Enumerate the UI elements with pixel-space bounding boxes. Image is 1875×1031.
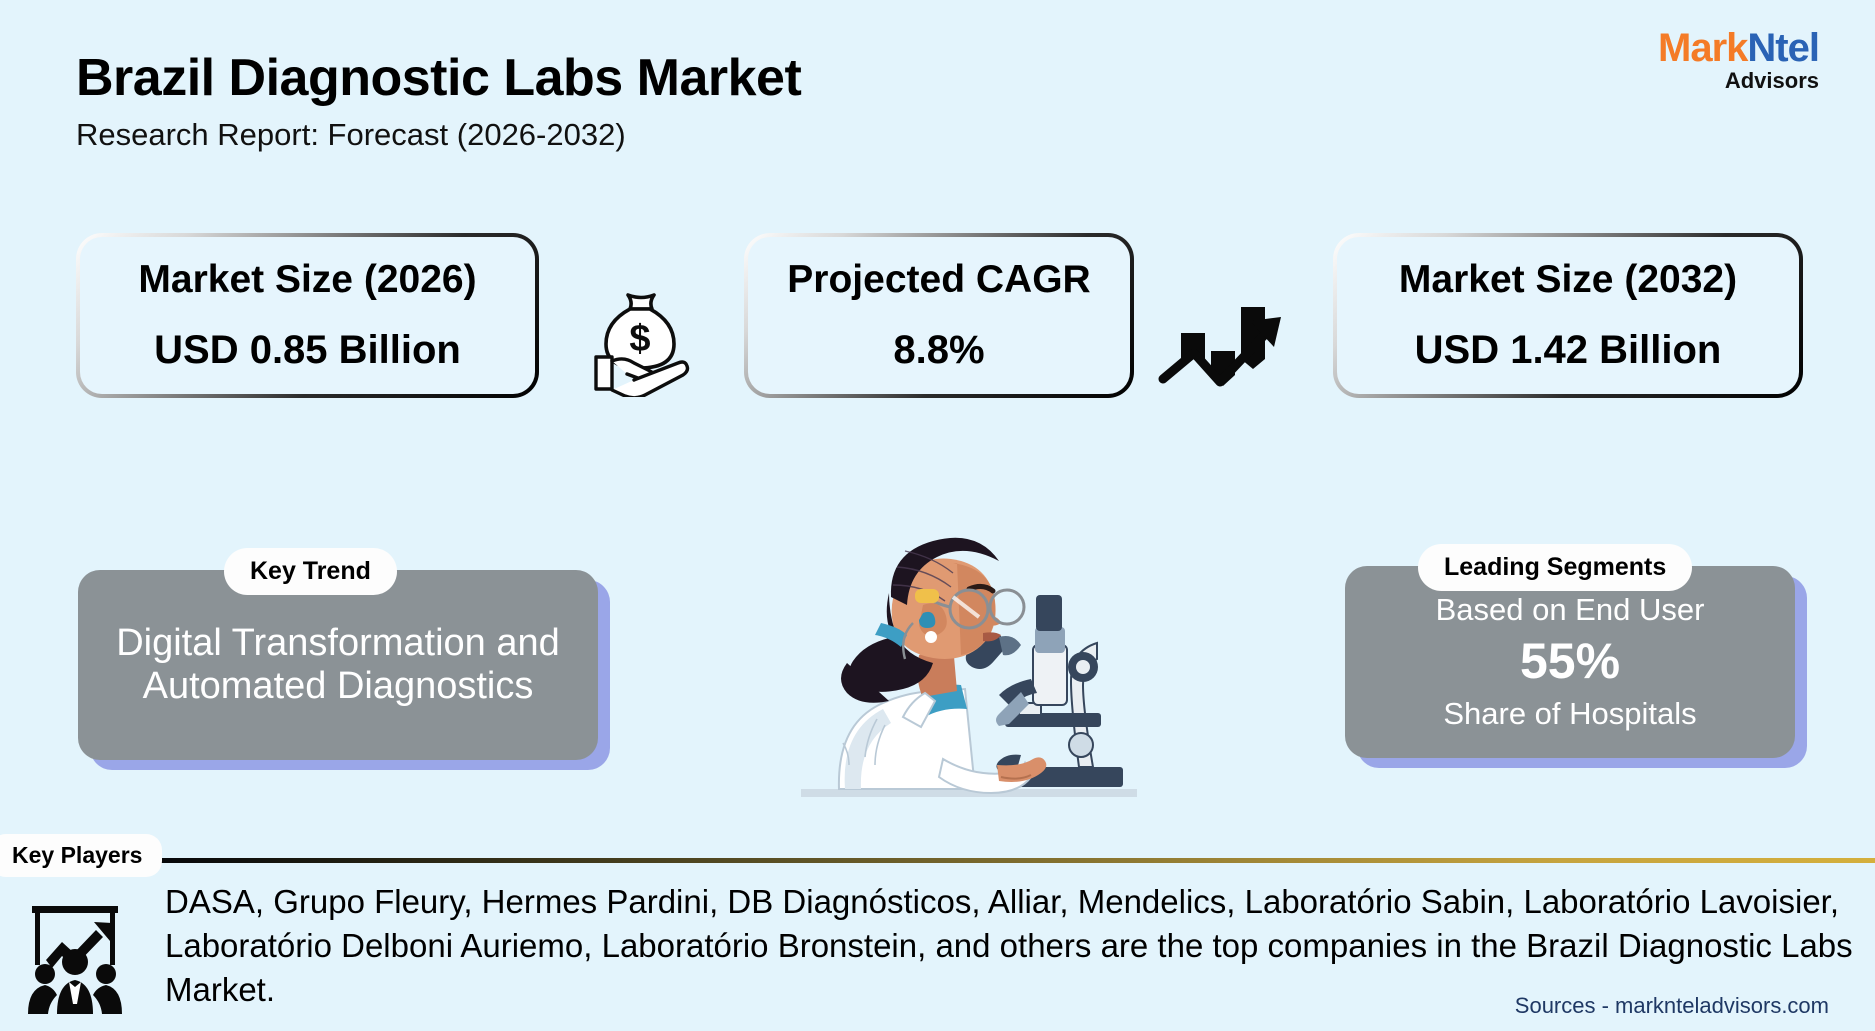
leading-segments-box-body: Based on End User 55% Share of Hospitals <box>1345 566 1795 758</box>
key-trend-text: Digital Transformation and Automated Dia… <box>78 622 598 707</box>
infographic-root: Brazil Diagnostic Labs Market Research R… <box>0 0 1875 1031</box>
money-bag-in-hand-icon: $ <box>578 285 704 397</box>
leading-segments-box: Based on End User 55% Share of Hospitals <box>1345 566 1795 758</box>
key-trend-box-body: Digital Transformation and Automated Dia… <box>78 570 598 760</box>
segment-share-value: 55% <box>1520 632 1620 690</box>
team-presentation-growth-icon <box>16 896 134 1016</box>
stat-card-projected-cagr: Projected CAGR 8.8% <box>744 233 1134 398</box>
page-title: Brazil Diagnostic Labs Market <box>76 48 801 108</box>
stat-card-market-size-2026: Market Size (2026) USD 0.85 Billion <box>76 233 539 398</box>
svg-text:$: $ <box>629 318 650 360</box>
key-players-pill: Key Players <box>0 834 162 877</box>
key-trend-pill: Key Trend <box>224 548 397 595</box>
segment-basis-label: Based on End User <box>1436 592 1705 628</box>
stat-label: Market Size (2026) <box>138 258 476 302</box>
scientist-using-microscope-illustration <box>793 527 1145 804</box>
segment-share-label: Share of Hospitals <box>1443 696 1696 732</box>
bar-chart-growth-arrow-icon <box>1155 285 1290 397</box>
stat-value: USD 0.85 Billion <box>154 328 461 373</box>
leading-segments-pill: Leading Segments <box>1418 544 1692 591</box>
logo-tagline: Advisors <box>1658 70 1819 92</box>
stat-card-market-size-2032: Market Size (2032) USD 1.42 Billion <box>1333 233 1803 398</box>
stat-value: 8.8% <box>893 328 984 373</box>
key-players-divider <box>150 858 1875 863</box>
stat-label: Projected CAGR <box>787 258 1090 302</box>
stat-value: USD 1.42 Billion <box>1415 328 1722 373</box>
brand-logo: MarkNtel Advisors <box>1658 28 1819 92</box>
logo-mark-text: Mark <box>1658 26 1747 70</box>
key-trend-box: Digital Transformation and Automated Dia… <box>78 570 598 760</box>
logo-ntel-text: Ntel <box>1747 26 1819 70</box>
page-subtitle: Research Report: Forecast (2026-2032) <box>76 117 626 153</box>
sources-label: Sources - marknteladvisors.com <box>1515 993 1829 1019</box>
stat-label: Market Size (2032) <box>1399 258 1737 302</box>
